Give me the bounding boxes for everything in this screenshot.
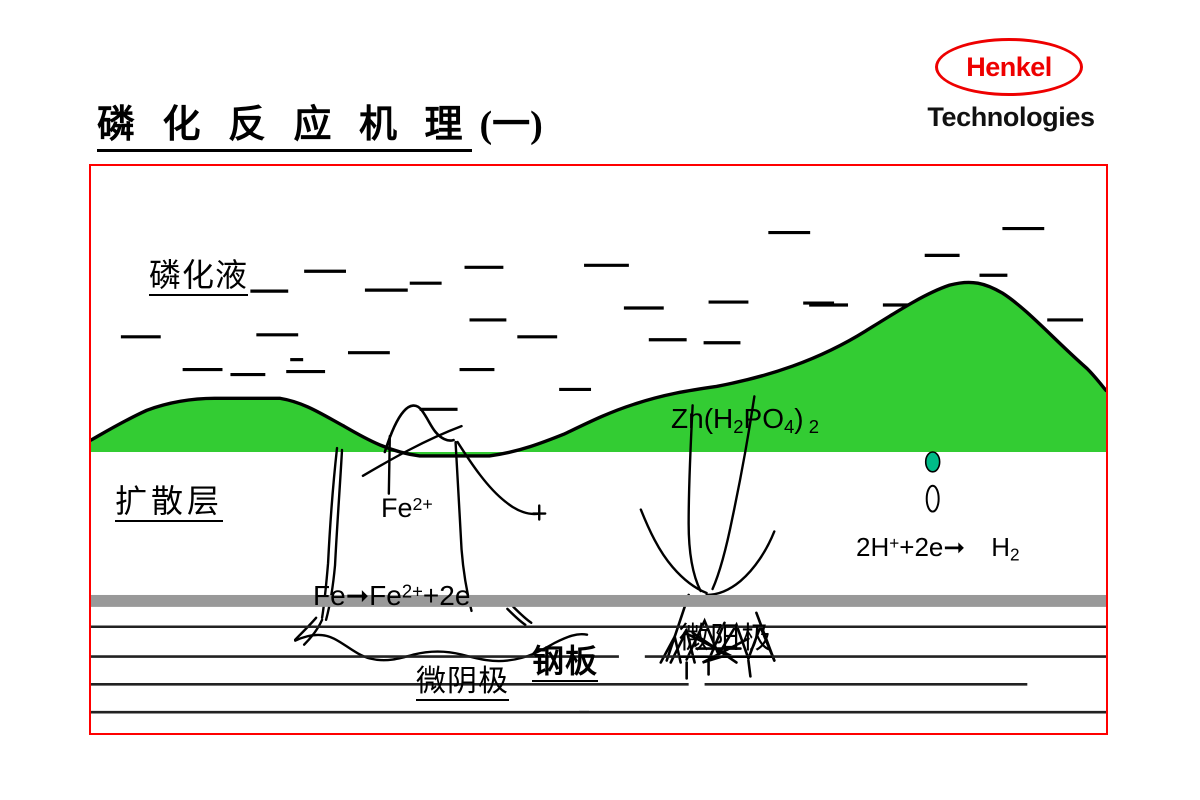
diagram-frame: 磷化液 扩散层 钢板 微阴极 微阳极 Zn(H2PO4) 2 Fe2+ Fe➞F…	[89, 164, 1108, 735]
slide-root: 磷 化 反 应 机 理(一) Henkel Technologies	[0, 0, 1200, 800]
equation-cathodic-reaction: 2H++2e➞H2	[856, 532, 1020, 565]
logo-brand-text: Henkel	[935, 38, 1083, 96]
equation-anodic-reaction: Fe➞Fe2++2e	[313, 579, 470, 612]
label-diffusion-layer: 扩散层	[115, 476, 223, 522]
henkel-logo: Henkel Technologies	[905, 38, 1117, 148]
page-title-suffix: (一)	[480, 104, 543, 146]
equation-zinc-phosphate: Zn(H2PO4) 2	[671, 403, 819, 438]
hydrogen-bubble-filled-icon	[926, 452, 940, 472]
label-micro-cathode: 微阴极	[416, 656, 509, 700]
steel-substrate-lines	[91, 627, 1106, 712]
label-steel-plate: 钢板	[532, 636, 598, 682]
steel-plate-bar	[91, 595, 1106, 607]
label-phosphating-solution: 磷化液	[149, 250, 248, 296]
hydrogen-bubble-hollow-icon	[927, 486, 939, 512]
logo-tagline-text: Technologies	[905, 102, 1117, 133]
label-micro-anode: 微阳极	[679, 613, 772, 657]
coating-layer-fill	[91, 282, 1106, 456]
page-title: 磷 化 反 应 机 理(一)	[97, 93, 543, 148]
equation-ferrous-ion: Fe2+	[381, 493, 433, 524]
page-title-main: 磷 化 反 应 机 理	[97, 104, 472, 152]
